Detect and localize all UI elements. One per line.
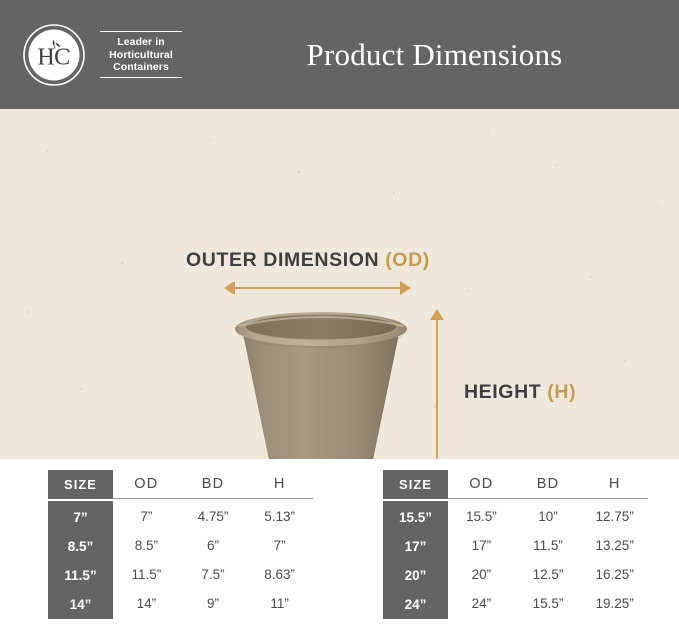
size-column: SIZE 7” 8.5” 11.5” 14” (48, 470, 113, 619)
cell-bd: 7.5” (180, 567, 247, 582)
cell-od: 20” (448, 567, 515, 582)
size-column-header: SIZE (383, 470, 448, 499)
cell-bd: 4.75” (180, 509, 247, 524)
cell-h: 16.25” (581, 567, 648, 582)
table-row-size: 8.5” (48, 532, 113, 561)
table-row: 24” 15.5” 19.25” (448, 589, 648, 618)
svg-text:HC: HC (37, 44, 69, 70)
height-label: HEIGHT (H) (464, 381, 576, 404)
cell-h: 8.63” (246, 567, 313, 582)
table-row-size: 15.5” (383, 503, 448, 532)
column-header-bd: BD (180, 476, 247, 492)
outer-dimension-label: OUTER DIMENSION (OD) (186, 249, 430, 272)
brand-rule-bottom (100, 77, 182, 79)
cell-od: 14” (113, 596, 180, 611)
table-header-row: OD BD H (113, 470, 313, 499)
cell-bd: 11.5” (515, 538, 582, 553)
cell-h: 19.25” (581, 596, 648, 611)
table-row-size: 20” (383, 561, 448, 590)
cell-bd: 12.5” (515, 567, 582, 582)
cell-od: 15.5” (448, 509, 515, 524)
cell-od: 17” (448, 538, 515, 553)
hc-circle-leaf-logo-icon: HC (22, 23, 86, 87)
column-header-od: OD (113, 476, 180, 492)
table-row-size: 17” (383, 532, 448, 561)
cell-h: 13.25” (581, 538, 648, 553)
table-row-size: 7” (48, 503, 113, 532)
table-row: 7” 4.75” 5.13” (113, 502, 313, 531)
outer-dimension-label-abbr: (OD) (385, 249, 430, 271)
table-row: 20” 12.5” 16.25” (448, 560, 648, 589)
table-row: 8.5” 6” 7” (113, 531, 313, 560)
table-header-row: OD BD H (448, 470, 648, 499)
table-row-size: 24” (383, 590, 448, 619)
table-row: 14” 9” 11” (113, 589, 313, 618)
dimension-tables: SIZE 7” 8.5” 11.5” 14” OD BD H 7” 4.75” … (0, 470, 679, 636)
cell-bd: 6” (180, 538, 247, 553)
brand-tagline-line-2: Horticultural (100, 49, 182, 62)
page-header: HC Leader in Horticultural Containers Pr… (0, 0, 679, 109)
value-columns: OD BD H 15.5” 10” 12.75” 17” 11.5” 13.25… (448, 470, 648, 618)
brand-tagline-line-1: Leader in (100, 36, 182, 49)
cell-h: 11” (246, 596, 313, 611)
cell-od: 11.5” (113, 567, 180, 582)
table-row-size: 14” (48, 590, 113, 619)
planter-pot-illustration-icon (228, 307, 414, 459)
cell-h: 12.75” (581, 509, 648, 524)
table-row: 15.5” 10” 12.75” (448, 502, 648, 531)
table-row-size: 11.5” (48, 561, 113, 590)
column-header-bd: BD (515, 476, 582, 492)
outer-dimension-arrow-icon (224, 281, 411, 295)
cell-h: 5.13” (246, 509, 313, 524)
cell-bd: 15.5” (515, 596, 582, 611)
diagram-panel: OUTER DIMENSION (OD) BASE DIMENSION (BD)… (0, 109, 679, 459)
table-row: 17” 11.5” 13.25” (448, 531, 648, 560)
cell-od: 8.5” (113, 538, 180, 553)
height-label-text: HEIGHT (464, 381, 547, 403)
value-columns: OD BD H 7” 4.75” 5.13” 8.5” 6” 7” 11.5” … (113, 470, 313, 618)
height-arrow-icon (430, 309, 444, 459)
outer-dimension-label-text: OUTER DIMENSION (186, 249, 385, 271)
brand-tagline-line-3: Containers (100, 61, 182, 74)
column-header-od: OD (448, 476, 515, 492)
brand-tagline: Leader in Horticultural Containers (100, 26, 182, 84)
cell-bd: 10” (515, 509, 582, 524)
table-row: 11.5” 7.5” 8.63” (113, 560, 313, 589)
column-header-h: H (246, 476, 313, 492)
size-column-header: SIZE (48, 470, 113, 499)
brand-lockup: HC Leader in Horticultural Containers (22, 23, 182, 87)
cell-bd: 9” (180, 596, 247, 611)
size-column: SIZE 15.5” 17” 20” 24” (383, 470, 448, 619)
height-label-abbr: (H) (547, 381, 576, 403)
cell-od: 24” (448, 596, 515, 611)
column-header-h: H (581, 476, 648, 492)
cell-h: 7” (246, 538, 313, 553)
cell-od: 7” (113, 509, 180, 524)
